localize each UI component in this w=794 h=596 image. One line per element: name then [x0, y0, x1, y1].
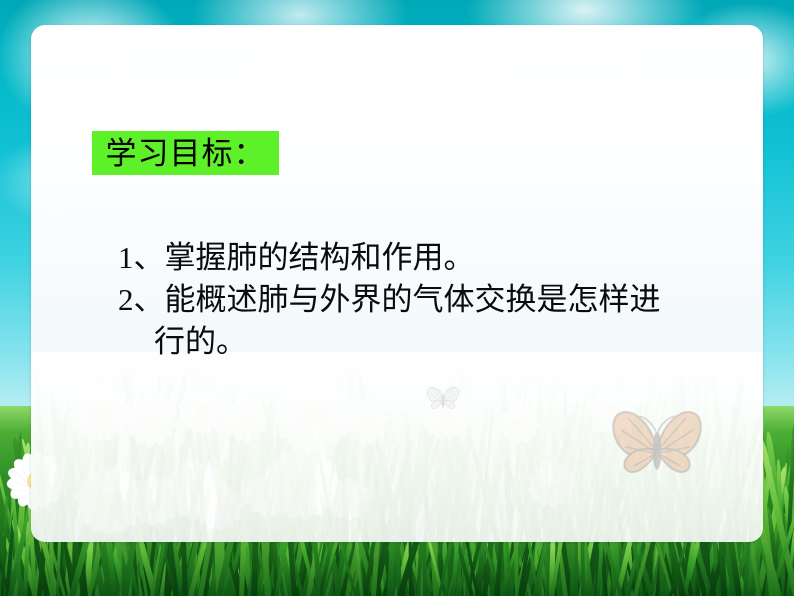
- objectives-list: 1、掌握肺的结构和作用。 2、能概述肺与外界的气体交换是怎样进 行的。: [118, 237, 718, 363]
- card-haze-overlay: [31, 352, 763, 542]
- objective-marker-2: 2、: [118, 282, 165, 317]
- slide-canvas: 学习目标： 1、掌握肺的结构和作用。 2、能概述肺与外界的气体交换是怎样进 行的…: [0, 0, 794, 596]
- objective-text-2: 能概述肺与外界的气体交换是怎样进: [165, 282, 661, 317]
- objective-item-1: 1、掌握肺的结构和作用。: [118, 237, 718, 279]
- objective-marker-1: 1、: [118, 240, 165, 275]
- objective-item-2: 2、能概述肺与外界的气体交换是怎样进: [118, 279, 718, 321]
- objective-item-2-continuation: 行的。: [118, 321, 718, 363]
- learning-objectives-title: 学习目标：: [106, 138, 266, 169]
- learning-objectives-title-box: 学习目标：: [92, 131, 279, 175]
- objective-text-2-cont: 行的。: [118, 321, 718, 363]
- objective-text-1: 掌握肺的结构和作用。: [165, 240, 475, 275]
- content-card: 学习目标： 1、掌握肺的结构和作用。 2、能概述肺与外界的气体交换是怎样进 行的…: [31, 25, 763, 542]
